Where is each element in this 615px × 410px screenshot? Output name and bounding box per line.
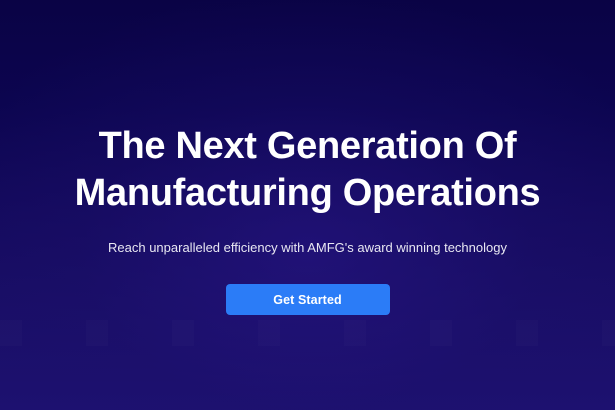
headline-line-1: The Next Generation Of <box>75 123 541 170</box>
hero-content: The Next Generation Of Manufacturing Ope… <box>0 123 615 315</box>
headline-line-2: Manufacturing Operations <box>75 170 541 217</box>
background-texture <box>0 320 615 346</box>
hero-subtitle: Reach unparalleled efficiency with AMFG'… <box>108 239 507 256</box>
hero-section: The Next Generation Of Manufacturing Ope… <box>0 0 615 410</box>
get-started-button[interactable]: Get Started <box>226 284 390 315</box>
page-title: The Next Generation Of Manufacturing Ope… <box>75 123 541 217</box>
